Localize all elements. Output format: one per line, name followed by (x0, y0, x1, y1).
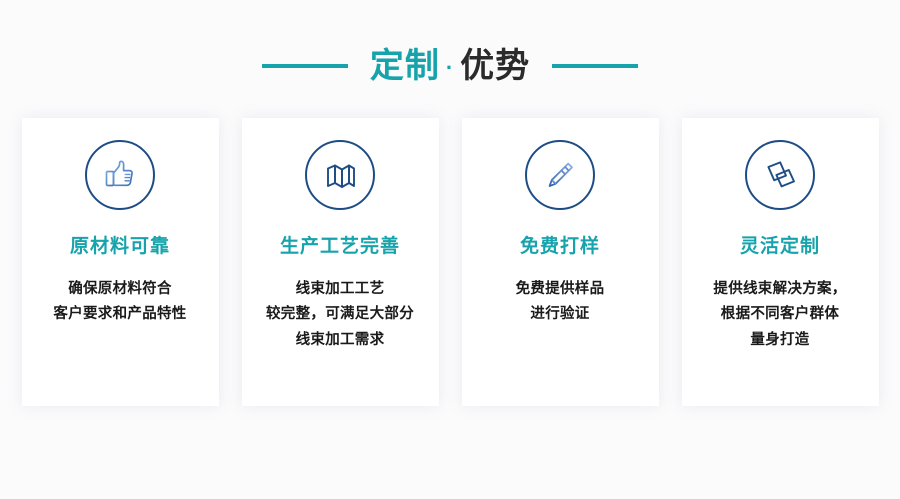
icon-circle (85, 140, 155, 210)
card-description: 免费提供样品 进行验证 (516, 277, 605, 328)
card-title: 灵活定制 (740, 236, 820, 259)
page-title-separator: · (446, 57, 454, 79)
feature-card[interactable]: 原材料可靠 确保原材料符合 客户要求和产品特性 (22, 118, 219, 406)
stacked-cards-icon (763, 158, 797, 192)
card-title: 原材料可靠 (70, 236, 170, 259)
page-title: 定制 · 优势 (370, 49, 530, 83)
feature-card[interactable]: 生产工艺完善 线束加工工艺 较完整，可满足大部分 线束加工需求 (242, 118, 439, 406)
icon-circle (525, 140, 595, 210)
heading-rule-left (262, 64, 348, 68)
card-description: 确保原材料符合 客户要求和产品特性 (53, 277, 186, 328)
page-title-accent: 定制 (370, 49, 440, 83)
feature-card-list: 原材料可靠 确保原材料符合 客户要求和产品特性 生产工艺完善 线束加工工艺 较完… (0, 118, 900, 406)
thumbs-up-icon (103, 158, 137, 192)
page-title-main: 优势 (460, 49, 530, 83)
card-description: 提供线束解决方案， 根据不同客户群体 量身打造 (713, 277, 846, 353)
folded-map-icon (323, 158, 357, 192)
card-description: 线束加工工艺 较完整，可满足大部分 线束加工需求 (266, 277, 414, 353)
section-heading: 定制 · 优势 (0, 0, 900, 118)
feature-card[interactable]: 灵活定制 提供线束解决方案， 根据不同客户群体 量身打造 (682, 118, 879, 406)
icon-circle (305, 140, 375, 210)
icon-circle (745, 140, 815, 210)
pencil-icon (543, 158, 577, 192)
feature-card[interactable]: 免费打样 免费提供样品 进行验证 (462, 118, 659, 406)
card-title: 生产工艺完善 (280, 236, 400, 259)
card-title: 免费打样 (520, 236, 600, 259)
heading-rule-right (552, 64, 638, 68)
